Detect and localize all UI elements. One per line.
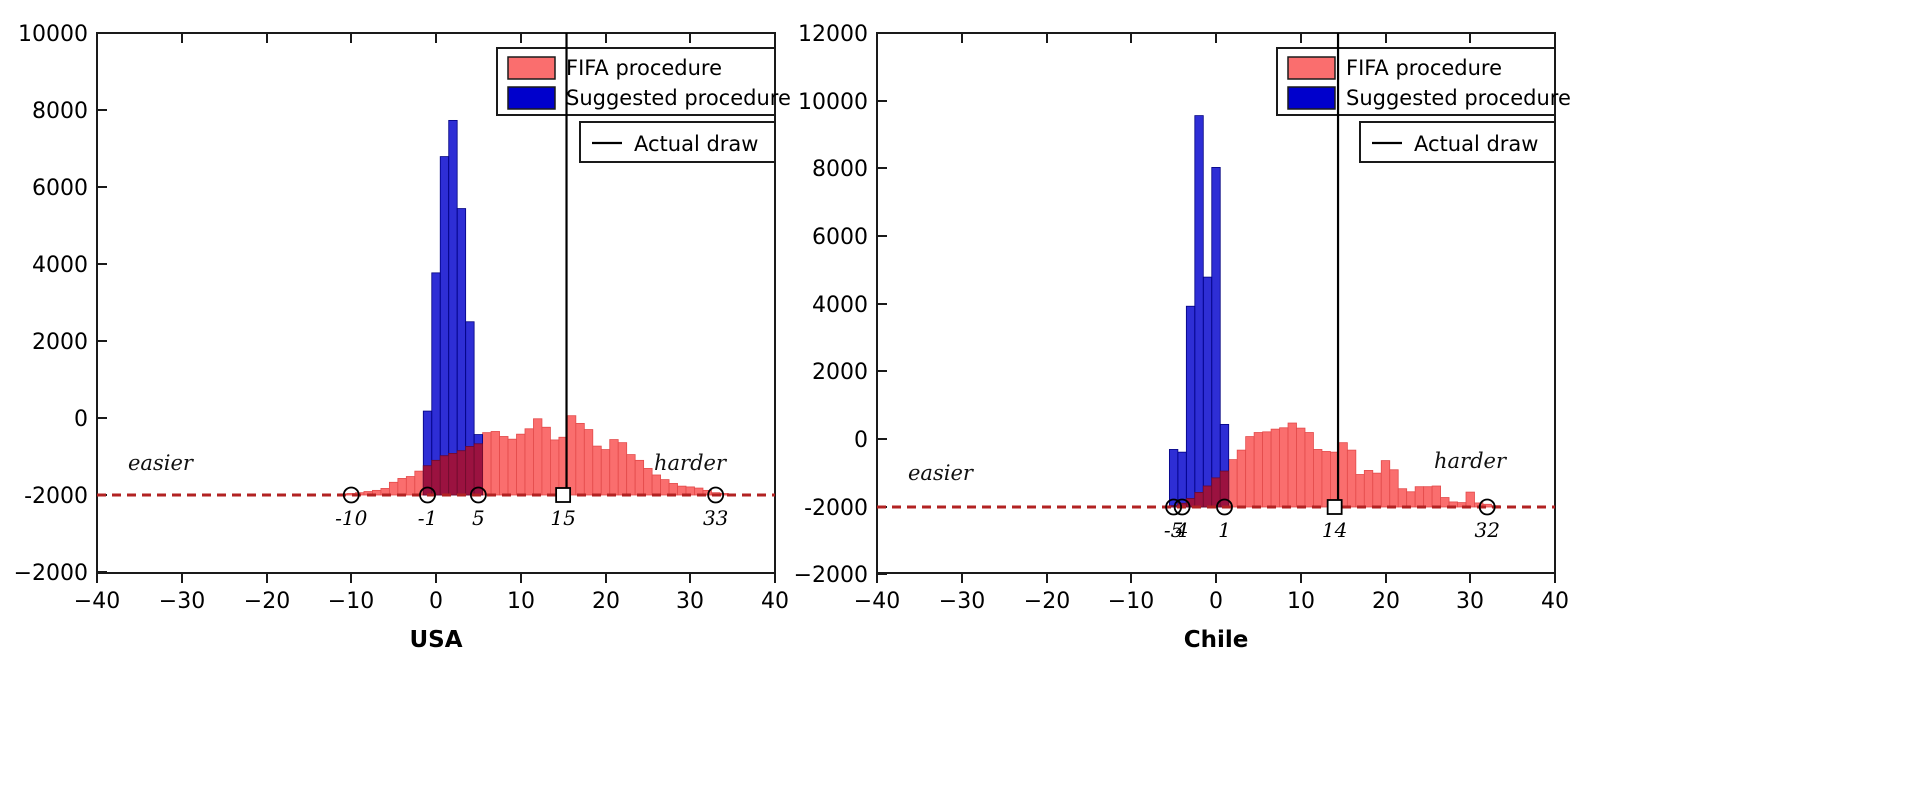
chile-legend-swatch-suggested — [1288, 87, 1335, 109]
marker-square — [556, 488, 570, 502]
marker-label: -1 — [418, 506, 437, 530]
overlap-bar — [1195, 492, 1203, 507]
fifa-bar — [1280, 428, 1288, 507]
chile-legend-label-fifa: FIFA procedure — [1346, 56, 1502, 80]
fifa-bar — [601, 450, 609, 495]
marker-square — [1328, 500, 1342, 514]
fifa-bar — [1229, 460, 1237, 507]
chile-ytick-label-0: -2000 — [804, 496, 868, 521]
fifa-bar — [483, 433, 491, 495]
usa-xtick-label-30: 30 — [676, 589, 704, 614]
chile-xtick-label-40: 40 — [1541, 589, 1569, 614]
usa-ytick-neg2000: −2000 — [14, 561, 107, 586]
usa-xtick-label-20: 20 — [592, 589, 620, 614]
fifa-bar — [627, 455, 635, 495]
suggested-bar — [440, 157, 448, 495]
chart-panel-chile: 12000 10000 8000 6000 4000 — [780, 0, 1570, 805]
marker-label: 32 — [1474, 518, 1499, 542]
suggested-bar — [1212, 167, 1220, 507]
usa-ytick-label-4000: 2000 — [32, 330, 88, 355]
overlap-bar — [1203, 486, 1211, 507]
chile-xtick-label-30: 30 — [1456, 589, 1484, 614]
chile-ytick-14000: 12000 — [798, 22, 887, 47]
usa-ytick-label-neg2000: −2000 — [14, 561, 88, 586]
usa-legend-label-fifa: FIFA procedure — [566, 56, 722, 80]
usa-legend-swatch-suggested — [508, 87, 555, 109]
fifa-bar — [1254, 433, 1262, 507]
fifa-bar — [584, 430, 592, 495]
fifa-bar — [525, 429, 533, 495]
chile-legend-patches[interactable]: FIFA procedure Suggested procedure — [1277, 48, 1571, 115]
usa-xtick-label--10: −10 — [328, 589, 374, 614]
marker-label: 14 — [1322, 518, 1347, 542]
chile-annotation-harder: harder — [1434, 449, 1508, 473]
usa-ytick-8000: 6000 — [32, 176, 107, 201]
usa-legend-label-suggested: Suggested procedure — [566, 86, 790, 110]
usa-annotation-easier: easier — [128, 451, 195, 475]
chile-y-axis: 12000 10000 8000 6000 4000 — [794, 22, 887, 588]
overlap-bar — [449, 453, 457, 495]
fifa-bar — [389, 482, 397, 495]
fifa-bar — [1407, 492, 1415, 507]
usa-ytick-label-8000: 6000 — [32, 176, 88, 201]
usa-xtick-label-10: 10 — [507, 589, 535, 614]
chile-ytick-label-8000: 6000 — [812, 225, 868, 250]
usa-xtick-label--20: −20 — [244, 589, 290, 614]
fifa-bar — [1305, 433, 1313, 507]
fifa-bar — [1288, 423, 1296, 507]
fifa-bar — [1347, 450, 1355, 507]
overlap-bar — [457, 451, 465, 495]
marker-label: -10 — [335, 506, 367, 530]
usa-ytick-label-0: -2000 — [24, 484, 88, 509]
fifa-bar — [1381, 461, 1389, 507]
fifa-bar — [1271, 429, 1279, 507]
chile-xtick-label--30: −30 — [939, 589, 985, 614]
usa-xtick-label-0: 0 — [429, 589, 443, 614]
usa-plot-svg: 10000 8000 6000 4000 2000 — [0, 0, 790, 805]
fifa-bar — [1466, 492, 1474, 507]
fifa-bar — [1263, 432, 1271, 507]
usa-legend-line[interactable]: Actual draw — [580, 122, 775, 162]
fifa-bar — [1415, 487, 1423, 507]
chile-axis-title: Chile — [1184, 627, 1249, 653]
fifa-bar — [593, 446, 601, 495]
fifa-bar — [1322, 451, 1330, 507]
fifa-bar — [669, 483, 677, 495]
fifa-bar — [533, 419, 541, 495]
usa-ytick-label-2000: 0 — [74, 407, 88, 432]
fifa-bar — [500, 436, 508, 495]
fifa-bar — [1364, 470, 1372, 507]
fifa-bar — [610, 440, 618, 495]
fifa-bar — [1356, 474, 1364, 507]
usa-y-axis: 10000 8000 6000 4000 2000 — [14, 22, 107, 586]
suggested-bar — [1203, 277, 1211, 507]
marker-label: 15 — [550, 506, 575, 530]
fifa-bar — [508, 439, 516, 495]
fifa-bar — [491, 431, 499, 495]
chile-xtick-label-20: 20 — [1372, 589, 1400, 614]
fifa-bar — [1246, 437, 1254, 507]
fifa-bar — [635, 460, 643, 495]
chile-legend-line[interactable]: Actual draw — [1360, 122, 1555, 162]
fifa-bar — [550, 440, 558, 495]
chile-ytick-6000: 4000 — [812, 293, 887, 318]
fifa-bar — [1432, 486, 1440, 507]
overlap-bar — [423, 466, 431, 495]
marker-label: 33 — [703, 506, 728, 530]
chile-ytick-12000: 10000 — [798, 90, 887, 115]
chile-ytick-0: -2000 — [804, 496, 887, 521]
chile-xtick-label--20: −20 — [1024, 589, 1070, 614]
fifa-bar — [576, 423, 584, 495]
fifa-bar — [1297, 428, 1305, 507]
chile-ytick-label-2000: 0 — [854, 428, 868, 453]
chile-ytick-label-12000: 10000 — [798, 90, 868, 115]
chile-ytick-label-14000: 12000 — [798, 22, 868, 47]
fifa-bar — [661, 480, 669, 495]
chile-plot-svg: 12000 10000 8000 6000 4000 — [780, 0, 1920, 805]
chile-xtick-label-0: 0 — [1209, 589, 1223, 614]
fifa-bar — [1339, 443, 1347, 507]
usa-ytick-label-10000: 8000 — [32, 99, 88, 124]
usa-legend-patches[interactable]: FIFA procedure Suggested procedure — [497, 48, 790, 115]
chile-annotation-easier: easier — [908, 461, 975, 485]
fifa-bar — [1313, 449, 1321, 507]
marker-label: 1 — [1218, 518, 1231, 542]
chile-ytick-label-10000: 8000 — [812, 157, 868, 182]
marker-label: 5 — [472, 506, 485, 530]
fifa-bar — [542, 427, 550, 495]
usa-ytick-10000: 8000 — [32, 99, 107, 124]
chile-legend-label-actualdraw: Actual draw — [1414, 132, 1538, 156]
usa-ytick-0: -2000 — [24, 484, 107, 509]
usa-legend-swatch-fifa — [508, 57, 555, 79]
usa-ytick-4000: 2000 — [32, 330, 107, 355]
suggested-bar — [449, 120, 457, 495]
fifa-bar — [406, 477, 414, 495]
chile-xtick-label--40: −40 — [854, 589, 900, 614]
chile-ytick-label-4000: 2000 — [812, 360, 868, 385]
fifa-bar — [1373, 473, 1381, 507]
chile-ytick-10000: 8000 — [812, 157, 887, 182]
chile-ytick-label-6000: 4000 — [812, 293, 868, 318]
usa-ytick-12000: 10000 — [18, 22, 107, 47]
chile-ytick-label-neg2000: −2000 — [794, 563, 868, 588]
fifa-bar — [652, 475, 660, 495]
fifa-bar — [398, 478, 406, 495]
chile-ytick-8000: 6000 — [812, 225, 887, 250]
chile-xtick-label--10: −10 — [1108, 589, 1154, 614]
marker-label: 4 — [1175, 518, 1189, 542]
chile-legend-swatch-fifa — [1288, 57, 1335, 79]
chile-legend-label-suggested: Suggested procedure — [1346, 86, 1571, 110]
overlap-bar — [1220, 471, 1228, 507]
fifa-bar — [618, 443, 626, 495]
chart-panel-usa: 10000 8000 6000 4000 2000 — [0, 0, 790, 805]
fifa-bar — [1424, 487, 1432, 507]
fifa-bar — [1398, 489, 1406, 507]
usa-ytick-6000: 4000 — [32, 253, 107, 278]
fifa-bar — [1237, 450, 1245, 507]
suggested-bar — [1169, 449, 1177, 507]
usa-xtick-label--30: −30 — [159, 589, 205, 614]
fifa-bar — [1390, 470, 1398, 507]
usa-ytick-label-12000: 10000 — [18, 22, 88, 47]
fifa-bar — [644, 468, 652, 495]
usa-annotation-harder: harder — [654, 451, 728, 475]
usa-xtick-label--40: −40 — [74, 589, 120, 614]
suggested-bar — [1195, 116, 1203, 507]
overlap-bar — [466, 446, 474, 495]
fifa-bar — [567, 416, 575, 495]
usa-legend-label-actualdraw: Actual draw — [634, 132, 758, 156]
chile-ytick-4000: 2000 — [812, 360, 887, 385]
figure-root: 10000 8000 6000 4000 2000 — [0, 0, 1920, 805]
overlap-bar — [440, 456, 448, 495]
chile-ytick-neg2000: −2000 — [794, 563, 887, 588]
suggested-bar — [1186, 306, 1194, 507]
chile-xtick-label-10: 10 — [1287, 589, 1315, 614]
fifa-bar — [415, 471, 423, 495]
usa-ytick-label-6000: 4000 — [32, 253, 88, 278]
usa-axis-title: USA — [409, 627, 462, 653]
fifa-bar — [517, 434, 525, 495]
